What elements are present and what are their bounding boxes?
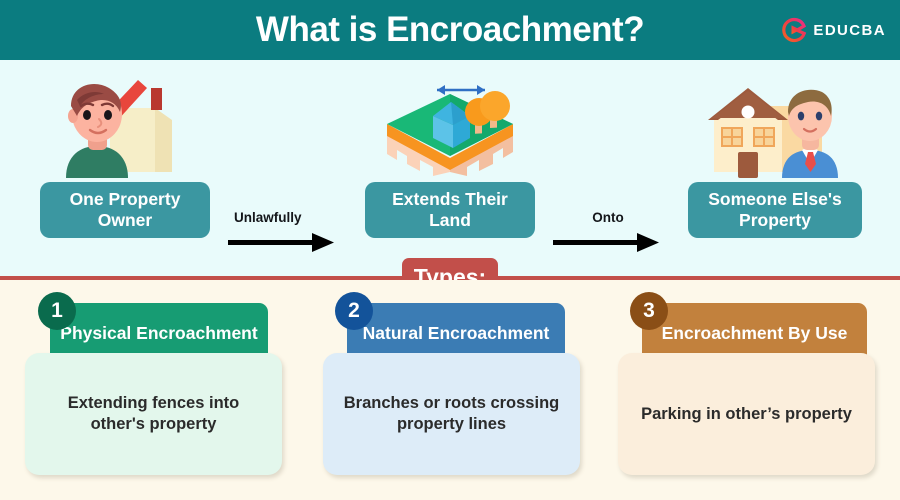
type-number-badge-2: 2 [335,292,373,330]
flow-arrow-unlawfully: Unlawfully [228,210,338,256]
type-number-badge-3: 3 [630,292,668,330]
brand-logo: EDUCBA [781,16,886,44]
brand-name: EDUCBA [813,22,886,39]
land-plot-with-house-and-trees-icon [330,68,570,178]
type-card-natural-encroachment: 2 Natural Encroachment Branches or roots… [305,280,595,500]
type-description-3: Parking in other’s property [618,353,875,475]
type-description-2: Branches or roots crossing property line… [323,353,580,475]
flow-step-someone-elses-property: Someone Else's Property [655,60,895,278]
flow-step-extends-their-land: Extends Their Land [330,60,570,278]
man-with-house-icon [5,68,245,178]
flow-label-1: One Property Owner [40,182,210,238]
type-card-encroachment-by-use: 3 Encroachment By Use Parking in other’s… [600,280,890,500]
arrow-label-unlawfully: Unlawfully [228,210,344,225]
type-description-1: Extending fences into other's property [25,353,282,475]
type-card-physical-encroachment: 1 Physical Encroachment Extending fences… [12,280,302,500]
header-bar: What is Encroachment? EDUCBA [0,0,900,60]
flow-label-2: Extends Their Land [365,182,535,238]
infographic-canvas: What is Encroachment? EDUCBA [0,0,900,500]
house-with-businessman-icon [655,68,895,178]
educba-swirl-logo-icon [781,17,807,43]
types-section: 1 Physical Encroachment Extending fences… [0,280,900,500]
right-arrow-icon [228,230,338,256]
flow-section: One Property Owner Unlawfully [0,60,900,278]
type-number-badge-1: 1 [38,292,76,330]
page-title: What is Encroachment? [0,0,900,60]
right-arrow-icon [553,230,663,256]
flow-arrow-onto: Onto [553,210,663,256]
flow-label-3: Someone Else's Property [688,182,862,238]
flow-step-one-property-owner: One Property Owner [5,60,245,278]
